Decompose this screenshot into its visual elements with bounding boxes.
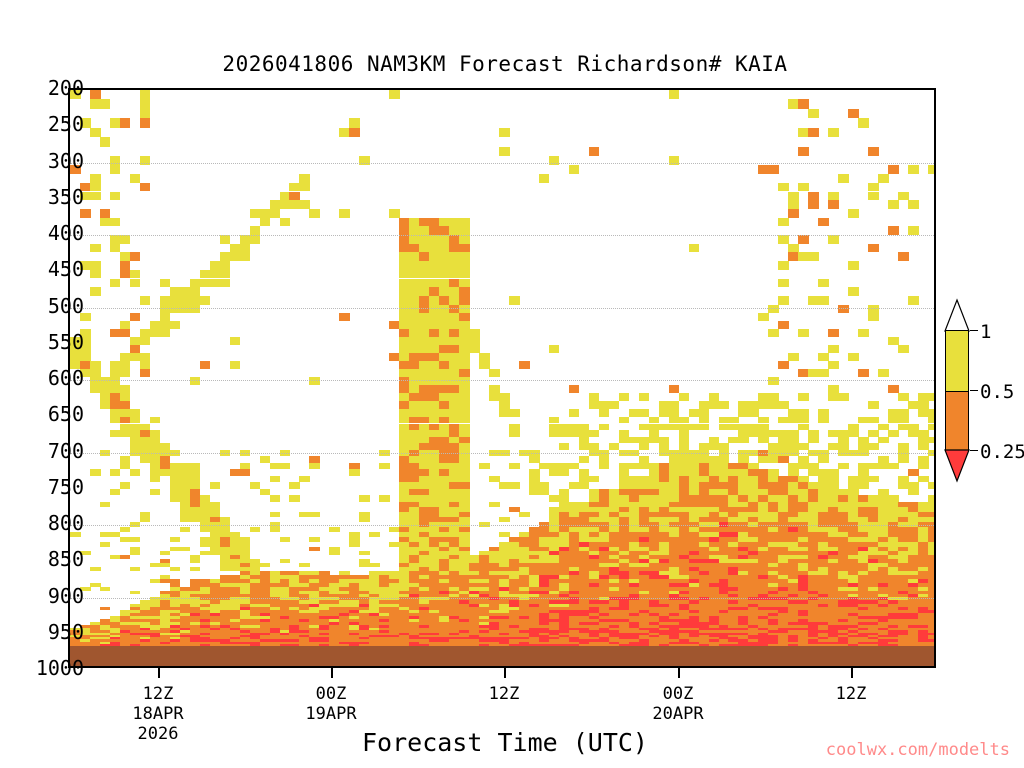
heatmap-cell [679,482,690,489]
heatmap-cell [80,313,91,321]
heatmap-cell [858,443,869,450]
heatmap-cell [80,337,91,345]
heatmap-cell [439,443,450,450]
heatmap-cell [758,476,769,483]
heatmap-cell [449,430,460,437]
heatmap-cell [459,261,470,270]
heatmap-cell [858,463,869,470]
heatmap-cell [469,345,480,353]
heatmap-cell [160,563,171,567]
heatmap-cell [429,252,440,261]
heatmap-cell [240,469,251,476]
heatmap-cell [329,527,340,532]
heatmap-cell [190,463,201,470]
heatmap-cell [489,502,500,507]
heatmap-cell [150,430,161,437]
heatmap-cell [409,409,420,417]
heatmap-cell [389,527,400,532]
heatmap-cell [240,235,251,244]
heatmap-cell [100,393,111,401]
heatmap-cell [499,393,510,401]
heatmap-cell [828,329,839,337]
heatmap-cell [838,463,849,470]
heatmap-cell [449,296,460,305]
heatmap-cell [439,244,450,253]
heatmap-cell [878,463,889,470]
heatmap-cell [808,369,819,377]
heatmap-cell [409,218,420,227]
x-axis-label-2: 12Z [489,684,520,704]
heatmap-cell [858,329,869,337]
heatmap-cell [908,296,919,305]
heatmap-cell [130,567,141,571]
heatmap-cell [778,476,789,483]
heatmap-cell [449,305,460,314]
heatmap-cell [120,321,131,329]
heatmap-cell [828,385,839,393]
heatmap-cell [619,463,630,470]
heatmap-cell [160,313,171,321]
heatmap-cell [549,156,560,165]
heatmap-cell [689,476,700,483]
heatmap-cell [429,369,440,377]
heatmap-cell [459,385,470,393]
y-tick-750 [68,489,70,491]
heatmap-cell [848,261,859,270]
heatmap-cell [798,128,809,137]
heatmap-cell [449,482,460,489]
heatmap-cell [888,430,899,437]
heatmap-cell [559,495,570,502]
heatmap-cell [439,495,450,502]
heatmap-cell [838,443,849,450]
heatmap-cell [280,463,291,470]
heatmap-cell [289,200,300,209]
heatmap-cell [858,369,869,377]
heatmap-cell [868,430,879,437]
heatmap-cell [908,430,919,437]
gridline-600 [70,380,934,381]
heatmap-cell [80,353,91,361]
heatmap-cell [439,482,450,489]
heatmap-cell [868,417,879,424]
heatmap-cell [110,489,121,496]
heatmap-cell [170,296,181,305]
heatmap-cell [778,279,789,288]
heatmap-cell [409,244,420,253]
heatmap-cell [399,244,410,253]
x-label-time: 00Z [305,684,356,704]
heatmap-cell [768,305,779,314]
heatmap-cell [429,244,440,253]
heatmap-cell [140,369,151,377]
heatmap-cell [220,279,231,288]
heatmap-cell [399,417,410,424]
heatmap-cell [120,353,131,361]
heatmap-cell [778,443,789,450]
heatmap-cell [798,424,809,431]
heatmap-cell [758,482,769,489]
heatmap-cell [409,313,420,321]
heatmap-cell [90,261,101,270]
heatmap-cell [80,361,91,369]
heatmap-cell [908,401,919,409]
heatmap-cell [459,361,470,369]
heatmap-cell [90,192,101,201]
heatmap-cell [449,401,460,409]
y-tick-250 [68,126,70,128]
heatmap-cell [409,287,420,296]
y-tick-500 [68,308,70,310]
heatmap-cell [479,361,490,369]
heatmap-cell [419,296,430,305]
heatmap-cell [778,235,789,244]
heatmap-cell [479,463,490,470]
heatmap-cell [90,583,101,587]
heatmap-cell [210,551,221,555]
heatmap-cell [110,244,121,253]
heatmap-cell [798,183,809,192]
heatmap-cell [559,430,570,437]
heatmap-cell [220,567,231,571]
heatmap-cell [818,456,829,463]
heatmap-cell [100,502,111,507]
heatmap-cell [509,463,520,470]
heatmap-cell [778,296,789,305]
heatmap-cell [190,482,201,489]
heatmap-cell [868,192,879,201]
heatmap-cell [289,495,300,502]
heatmap-cell [768,329,779,337]
heatmap-cell [619,482,630,489]
heatmap-cell [409,361,420,369]
heatmap-cell [459,463,470,470]
colorbar-tick-05 [970,390,978,391]
heatmap-cell [808,109,819,118]
heatmap-cell [70,165,81,174]
heatmap-cell [778,261,789,270]
heatmap-cell [699,443,710,450]
heatmap-cell [180,517,191,522]
heatmap-cell [449,409,460,417]
heatmap-cell [349,463,360,470]
heatmap-cell [110,369,121,377]
x-tick-3 [678,668,680,678]
x-label-time: 12Z [489,684,520,704]
heatmap-cell [858,495,869,502]
heatmap-cell [788,99,799,108]
heatmap-cell [808,482,819,489]
heatmap-cell [449,279,460,288]
heatmap-cell [898,192,909,201]
heatmap-cell [818,476,829,483]
heatmap-cell [778,361,789,369]
heatmap-cell [160,579,171,583]
heatmap-cell [200,279,211,288]
heatmap-cell [230,469,241,476]
heatmap-cell [429,321,440,329]
heatmap-cell [459,329,470,337]
heatmap-cell [499,482,510,489]
heatmap-cell [788,417,799,424]
heatmap-cell [699,424,710,431]
heatmap-cell [309,209,320,218]
heatmap-cell [569,385,580,393]
heatmap-cell [270,200,281,209]
heatmap-cell [848,482,859,489]
heatmap-cell [649,482,660,489]
heatmap-cell [409,261,420,270]
heatmap-cell [110,469,121,476]
heatmap-cell [768,456,779,463]
heatmap-cell [130,409,141,417]
heatmap-cell [788,209,799,218]
heatmap-cell [868,495,879,502]
heatmap-cell [559,469,570,476]
heatmap-cell [639,393,650,401]
heatmap-cell [110,401,121,409]
gridline-300 [70,163,934,164]
x-axis-label-4: 12Z [836,684,867,704]
heatmap-cell [429,443,440,450]
heatmap-cell [748,482,759,489]
heatmap-cell [439,261,450,270]
heatmap-cell [110,430,121,437]
heatmap-cell [180,463,191,470]
heatmap-cell [679,495,690,502]
heatmap-cell [409,495,420,502]
heatmap-cell [619,437,630,444]
heatmap-cell [419,417,430,424]
heatmap-cell [210,482,221,489]
heatmap-cell [349,469,360,476]
heatmap-cell [130,430,141,437]
heatmap-cell [848,109,859,118]
heatmap-cell [828,192,839,201]
heatmap-cell [339,209,350,218]
heatmap-cell [429,313,440,321]
heatmap-cell [120,537,131,542]
heatmap-cell [579,482,590,489]
heatmap-cell [439,218,450,227]
heatmap-cell [429,401,440,409]
heatmap-cell [728,424,739,431]
heatmap-cell [170,495,181,502]
heatmap-cell [908,165,919,174]
heatmap-cell [409,377,420,385]
heatmap-cell [748,401,759,409]
heatmap-cell [90,469,101,476]
heatmap-cell [738,495,749,502]
heatmap-cell [768,430,779,437]
heatmap-cell [898,424,909,431]
gridline-800 [70,525,934,526]
colorbar-tick-025 [970,450,978,451]
heatmap-cell [499,147,510,156]
heatmap-cell [758,437,769,444]
heatmap-cell [778,456,789,463]
heatmap-cell [160,463,171,470]
heatmap-cell [828,495,839,502]
heatmap-cell [150,563,161,567]
heatmap-cell [589,147,600,156]
heatmap-cell [509,430,520,437]
heatmap-cell [160,551,171,555]
heatmap-cell [918,409,929,417]
heatmap-cell [778,321,789,329]
heatmap-cell [419,345,430,353]
heatmap-cell [439,296,450,305]
heatmap-cell [808,192,819,201]
heatmap-cell [549,495,560,502]
heatmap-cell [140,517,151,522]
heatmap-cell [399,495,410,502]
heatmap-cell [788,463,799,470]
y-tick-400 [68,235,70,237]
heatmap-cell [230,361,241,369]
heatmap-cell [299,476,310,483]
heatmap-cell [419,443,430,450]
heatmap-cell [798,409,809,417]
heatmap-cell [409,482,420,489]
heatmap-cell [589,401,600,409]
heatmap-cell [419,401,430,409]
heatmap-cell [150,443,161,450]
heatmap-cell [569,463,580,470]
heatmap-cell [110,361,121,369]
heatmap-cell [699,409,710,417]
heatmap-cell [908,469,919,476]
heatmap-cell [728,437,739,444]
heatmap-cell [609,443,620,450]
heatmap-cell [808,469,819,476]
x-tick-4 [851,668,853,678]
page-title: 2026041806 NAM3KM Forecast Richardson# K… [0,52,1010,76]
heatmap-cell [659,409,670,417]
heatmap-cell [409,369,420,377]
heatmap-cell [120,270,131,279]
heatmap-cell [180,296,191,305]
heatmap-cell [768,476,779,483]
heatmap-cell [798,235,809,244]
heatmap-cell [639,424,650,431]
y-tick-350 [68,199,70,201]
heatmap-cell [409,393,420,401]
heatmap-cell [449,377,460,385]
heatmap-cell [619,393,630,401]
heatmap-cell [399,226,410,235]
heatmap-cell [669,417,680,424]
heatmap-cell [728,417,739,424]
heatmap-cell [439,252,450,261]
heatmap-cell [409,385,420,393]
heatmap-cell [260,563,271,567]
x-tick-0 [158,668,160,678]
heatmap-cell [130,252,141,261]
heatmap-cell [459,443,470,450]
heatmap-cell [240,244,251,253]
heatmap-cell [260,489,271,496]
heatmap-cell [509,482,520,489]
heatmap-cell [768,165,779,174]
heatmap-cell [559,443,570,450]
heatmap-cell [639,463,650,470]
heatmap-cell [399,296,410,305]
heatmap-cell [868,305,879,314]
heatmap-cell [120,235,131,244]
heatmap-cell [808,128,819,137]
heatmap-cell [788,482,799,489]
heatmap-cell [649,437,660,444]
heatmap-cell [539,463,550,470]
heatmap-cell [709,482,720,489]
heatmap-cell [928,417,936,424]
heatmap-cell [130,270,141,279]
heatmap-cell [309,547,320,551]
heatmap-cell [429,235,440,244]
heatmap-cell [409,226,420,235]
heatmap-cell [289,183,300,192]
heatmap-cell [399,353,410,361]
heatmap-cell [499,128,510,137]
heatmap-cell [828,361,839,369]
heatmap-cell [180,305,191,314]
heatmap-cell [539,174,550,183]
heatmap-cell [569,409,580,417]
heatmap-cell [270,209,281,218]
heatmap-cell [399,482,410,489]
heatmap-cell [918,443,929,450]
heatmap-cell [449,252,460,261]
heatmap-cell [190,559,201,563]
heatmap-cell [419,305,430,314]
heatmap-cell [439,313,450,321]
heatmap-cell [349,128,360,137]
heatmap-cell [130,279,141,288]
heatmap-cell [190,305,201,314]
gridline-400 [70,235,934,236]
heatmap-cell [140,456,151,463]
heatmap-cell [439,417,450,424]
heatmap-cell [848,430,859,437]
heatmap-cell [110,235,121,244]
heatmap-cell [459,321,470,329]
heatmap-cell [439,337,450,345]
heatmap-cell [928,495,936,502]
heatmap-cell [728,476,739,483]
heatmap-cell [429,226,440,235]
heatmap-cell [669,409,680,417]
heatmap-cell [449,393,460,401]
heatmap-cell [798,482,809,489]
heatmap-cell [928,393,936,401]
heatmap-cell [409,279,420,288]
heatmap-cell [389,321,400,329]
heatmap-cell [230,244,241,253]
heatmap-cell [758,456,769,463]
heatmap-cell [719,443,730,450]
heatmap-cell [669,482,680,489]
heatmap-cell [748,409,759,417]
heatmap-cell [449,476,460,483]
heatmap-cell [798,495,809,502]
heatmap-cell [828,482,839,489]
heatmap-cell [419,495,430,502]
heatmap-cell [689,424,700,431]
heatmap-cell [489,393,500,401]
heatmap-cell [429,385,440,393]
heatmap-cell [409,401,420,409]
